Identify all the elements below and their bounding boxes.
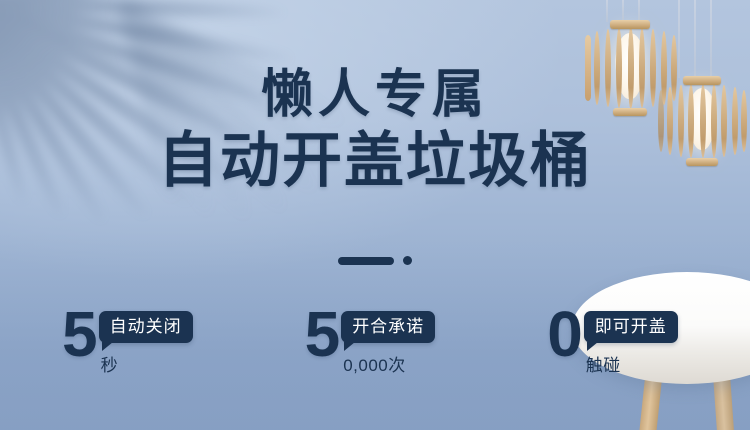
lantern-cord (694, 0, 696, 76)
palm-frond (0, 0, 284, 20)
stat-badge: 即可开盖 (584, 311, 678, 343)
promo-banner: 懒人专属 自动开盖垃圾桶 5 自动关闭 秒 5 开合承诺 0,000次 0 即可… (0, 0, 750, 430)
palm-frond (0, 0, 292, 66)
palm-frond (0, 0, 265, 9)
stat-text-group: 开合承诺 0,000次 (341, 305, 435, 374)
stat-unit: 秒 (101, 357, 193, 374)
lantern-cord (710, 0, 712, 78)
stat-text-group: 即可开盖 触碰 (584, 305, 678, 374)
stat-number: 5 (62, 305, 97, 364)
stat-number: 0 (547, 305, 582, 364)
headline: 懒人专属 自动开盖垃圾桶 (0, 68, 750, 194)
stat-unit: 0,000次 (343, 357, 435, 374)
stat-item-auto-close: 5 自动关闭 秒 (62, 305, 193, 374)
lantern-cord (638, 0, 640, 22)
lantern-cap (610, 20, 650, 29)
stat-number: 5 (305, 305, 340, 364)
stat-text-group: 自动关闭 秒 (99, 305, 193, 374)
stat-unit: 触碰 (586, 357, 678, 374)
stats-row: 5 自动关闭 秒 5 开合承诺 0,000次 0 即可开盖 触碰 (62, 305, 720, 374)
stat-badge: 开合承诺 (341, 311, 435, 343)
stat-badge: 自动关闭 (99, 311, 193, 343)
headline-line-2: 自动开盖垃圾桶 (0, 127, 750, 194)
lantern-cord (606, 0, 608, 22)
lantern-cord (678, 0, 680, 78)
lantern-cord (622, 0, 624, 20)
divider-dot (403, 256, 412, 265)
divider-bar (338, 257, 394, 265)
headline-line-1: 懒人专属 (0, 68, 750, 123)
divider (0, 256, 750, 265)
stat-item-touchless: 0 即可开盖 触碰 (547, 305, 678, 374)
stat-item-open-close-cycles: 5 开合承诺 0,000次 (305, 305, 436, 374)
